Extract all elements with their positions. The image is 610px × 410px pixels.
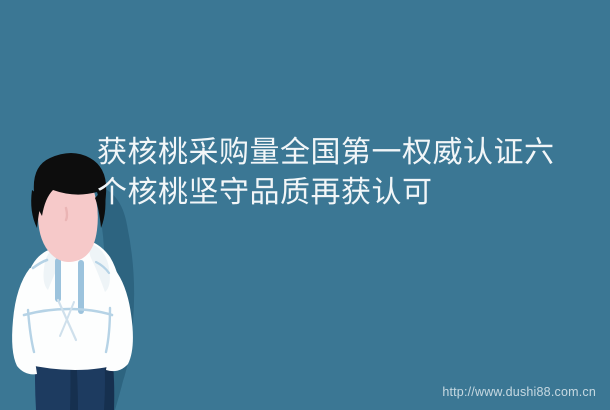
pants	[35, 348, 114, 410]
hoodie-pocket-top	[24, 309, 112, 315]
hoodie-collar	[60, 244, 90, 259]
nose	[66, 208, 67, 220]
headline-text: 获核桃采购量全国第一权威认证六 个核桃坚守品质再获认可	[97, 133, 567, 213]
watermark-url: http://www.dushi88.com.cn	[442, 385, 596, 399]
headline-line-1: 获核桃采购量全国第一权威认证六	[97, 133, 567, 173]
headline-line-2: 个核桃坚守品质再获认可	[97, 173, 567, 213]
hoodie-left-sleeve	[12, 268, 45, 374]
pants-group	[35, 348, 114, 410]
hoodie-group	[12, 240, 133, 374]
hair-sideburn-left	[31, 190, 43, 228]
neck	[56, 226, 84, 252]
image-canvas: 获核桃采购量全国第一权威认证六 个核桃坚守品质再获认可 http://www.d…	[0, 0, 610, 410]
face	[38, 179, 98, 262]
pants-right-shade	[104, 350, 114, 410]
hoodie-drawstring-left	[55, 258, 61, 302]
hoodie-collar-button	[67, 248, 72, 253]
hoodie-pocket-right-edge	[106, 308, 110, 352]
body-drop-shadow	[93, 185, 134, 410]
hair	[34, 153, 106, 218]
hoodie-hood-left	[44, 246, 65, 290]
hoodie-shoulder-seam-left	[33, 260, 47, 268]
hoodie-drawstring-right	[78, 260, 84, 314]
pants-center-seam	[70, 354, 78, 410]
hoodie-torso	[22, 240, 125, 370]
hoodie-fold-a	[58, 300, 76, 340]
hoodie-fold-b	[60, 302, 74, 336]
hoodie-shoulder-seam-right	[96, 262, 109, 273]
hoodie-pocket-left-edge	[28, 310, 34, 352]
drop-shadow-group	[93, 185, 134, 410]
hoodie-right-sleeve	[98, 262, 133, 371]
hoodie-hood-right	[89, 244, 110, 292]
